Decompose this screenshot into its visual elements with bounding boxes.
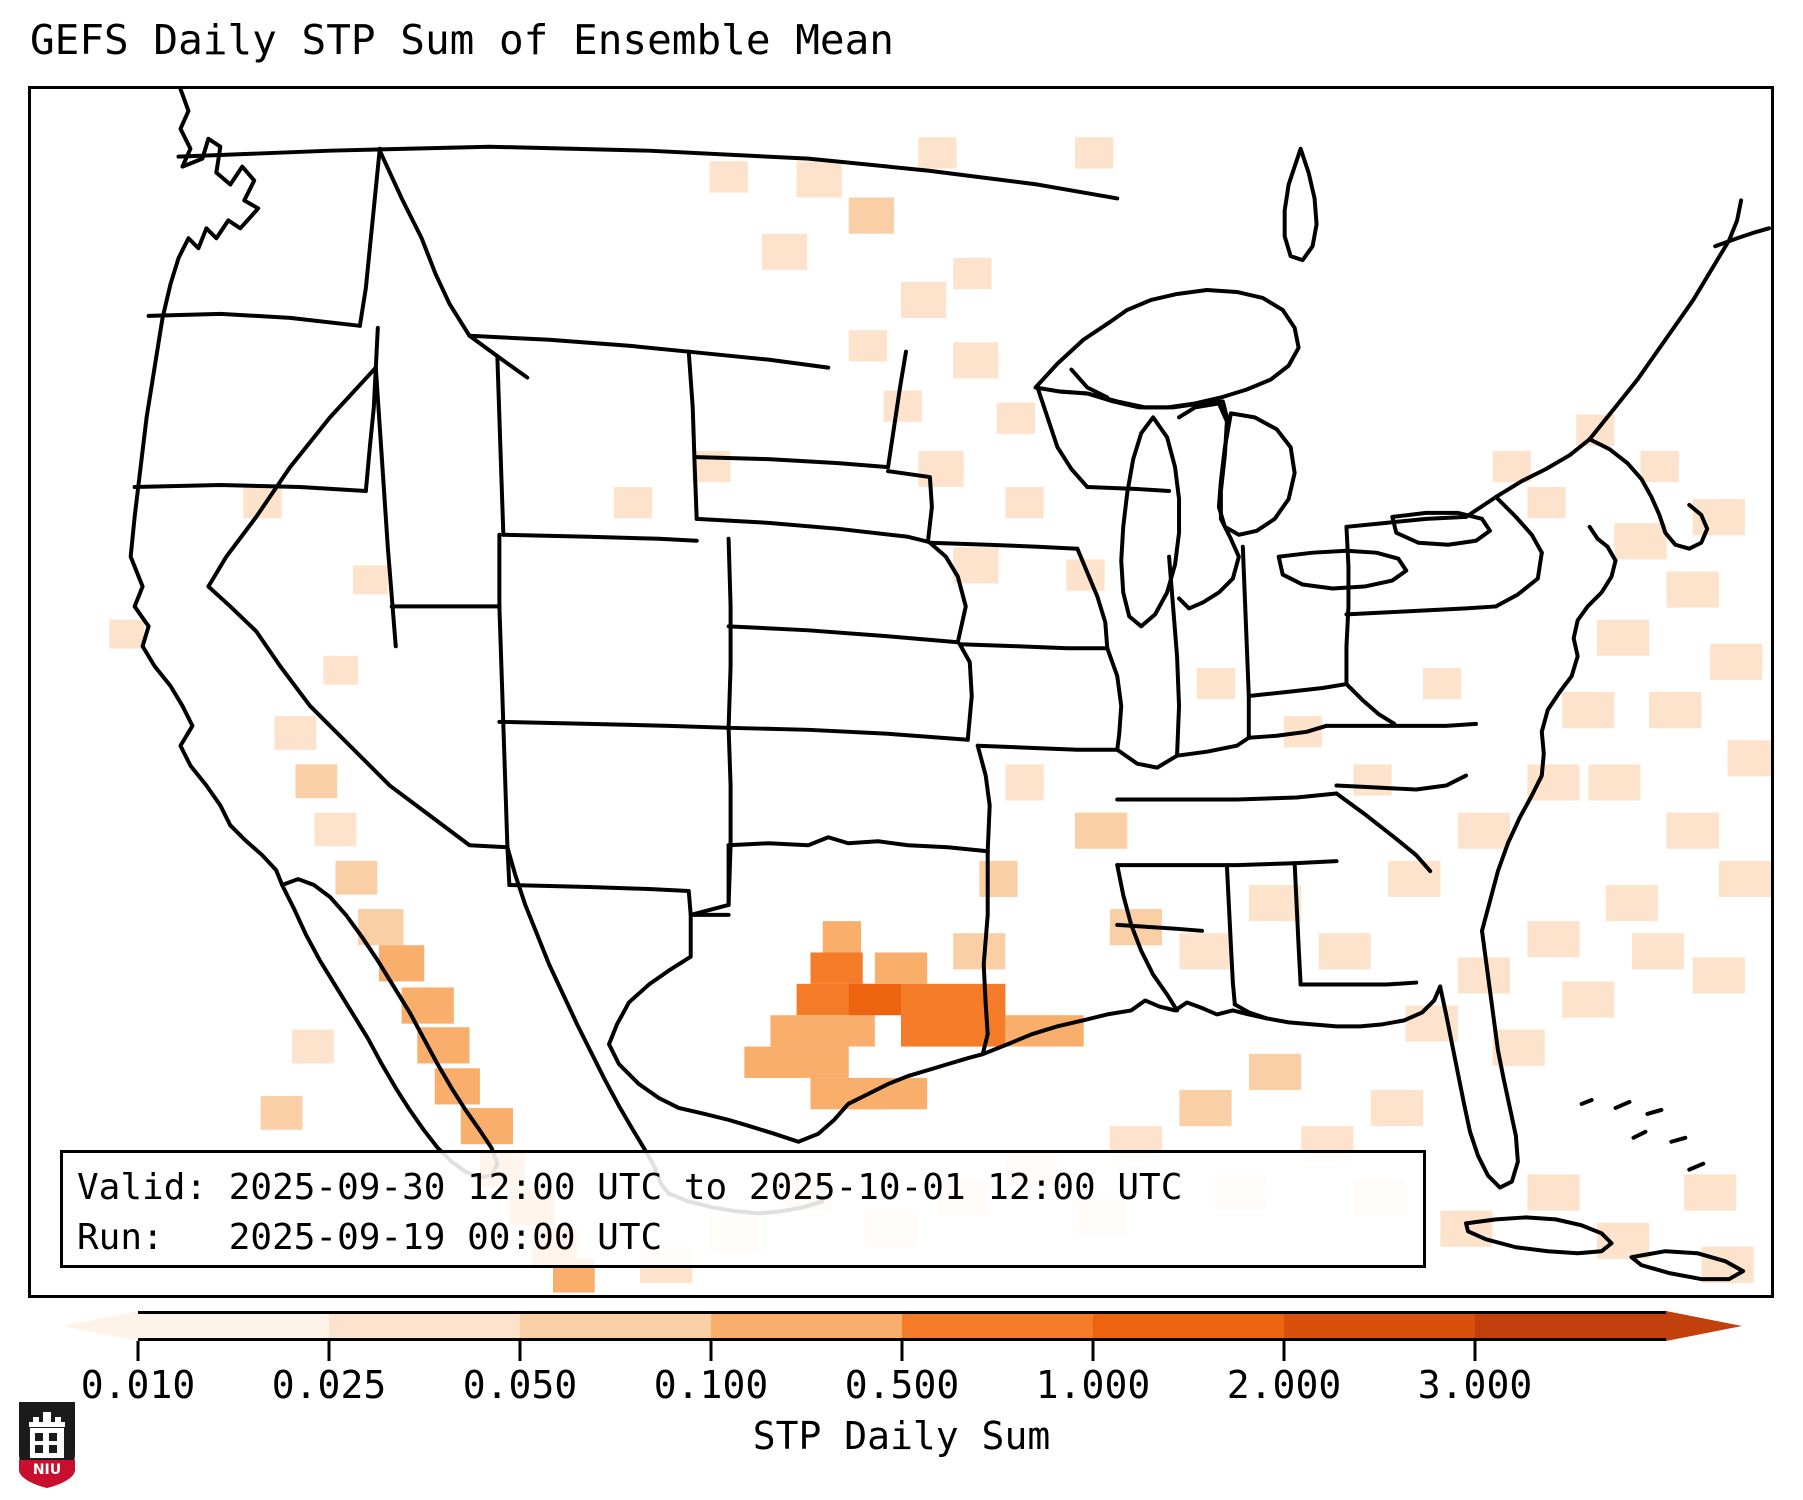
- page-title: GEFS Daily STP Sum of Ensemble Mean: [30, 16, 894, 64]
- colorbar-tick-label-6: 2.000: [1227, 1363, 1341, 1407]
- map-plot-area[interactable]: Valid: 2025-09-30 12:00 UTC to 2025-10-0…: [28, 86, 1774, 1298]
- colorbar-tick-1: [328, 1341, 331, 1361]
- colorbar-axis-label: STP Daily Sum: [0, 1414, 1803, 1458]
- great-lakes-path: [1036, 290, 1490, 626]
- colorbar-under-arrow: [62, 1311, 138, 1341]
- colorbar-bands[interactable]: [138, 1311, 1666, 1341]
- colorbar-tick-5: [1092, 1341, 1095, 1361]
- colorbar-tick-label-3: 0.100: [654, 1363, 768, 1407]
- colorbar-tick-label-5: 1.000: [1036, 1363, 1150, 1407]
- colorbar-tick-3: [710, 1341, 713, 1361]
- colorbar[interactable]: 0.0100.0250.0500.1000.5001.0002.0003.000: [62, 1311, 1742, 1347]
- colorbar-tick-6: [1283, 1341, 1286, 1361]
- country-border-path: [178, 147, 1117, 199]
- info-run-line: Run: 2025-09-19 00:00 UTC: [77, 1213, 1423, 1263]
- state-border-path: [697, 352, 990, 852]
- colorbar-tick-label-1: 0.025: [272, 1363, 386, 1407]
- map-geography-layer: [31, 89, 1771, 1295]
- colorbar-tick-label-4: 0.500: [845, 1363, 959, 1407]
- info-box: Valid: 2025-09-30 12:00 UTC to 2025-10-0…: [60, 1150, 1426, 1268]
- niu-logo: NIU: [16, 1398, 78, 1490]
- state-border-path: [135, 149, 829, 915]
- colorbar-band-2: [520, 1314, 711, 1338]
- colorbar-tick-2: [519, 1341, 522, 1361]
- colorbar-band-3: [711, 1314, 902, 1338]
- colorbar-over-arrow: [1666, 1311, 1742, 1341]
- colorbar-band-1: [329, 1314, 520, 1338]
- colorbar-band-4: [902, 1314, 1093, 1338]
- colorbar-band-6: [1284, 1314, 1475, 1338]
- colorbar-tick-7: [1474, 1341, 1477, 1361]
- colorbar-band-5: [1093, 1314, 1284, 1338]
- colorbar-band-7: [1475, 1314, 1666, 1338]
- niu-logo-text: NIU: [33, 1462, 61, 1478]
- colorbar-band-0: [138, 1314, 329, 1338]
- colorbar-tick-labels: 0.0100.0250.0500.1000.5001.0002.0003.000: [138, 1363, 1666, 1411]
- info-valid-line: Valid: 2025-09-30 12:00 UTC to 2025-10-0…: [77, 1163, 1423, 1213]
- colorbar-tick-label-7: 3.000: [1418, 1363, 1532, 1407]
- colorbar-ticks: [138, 1341, 1666, 1365]
- colorbar-tick-label-0: 0.010: [81, 1363, 195, 1407]
- coastline-path: [983, 149, 1769, 1188]
- state-border-path: [1117, 439, 1589, 1018]
- colorbar-tick-4: [901, 1341, 904, 1361]
- colorbar-tick-0: [137, 1341, 140, 1361]
- colorbar-tick-label-2: 0.050: [463, 1363, 577, 1407]
